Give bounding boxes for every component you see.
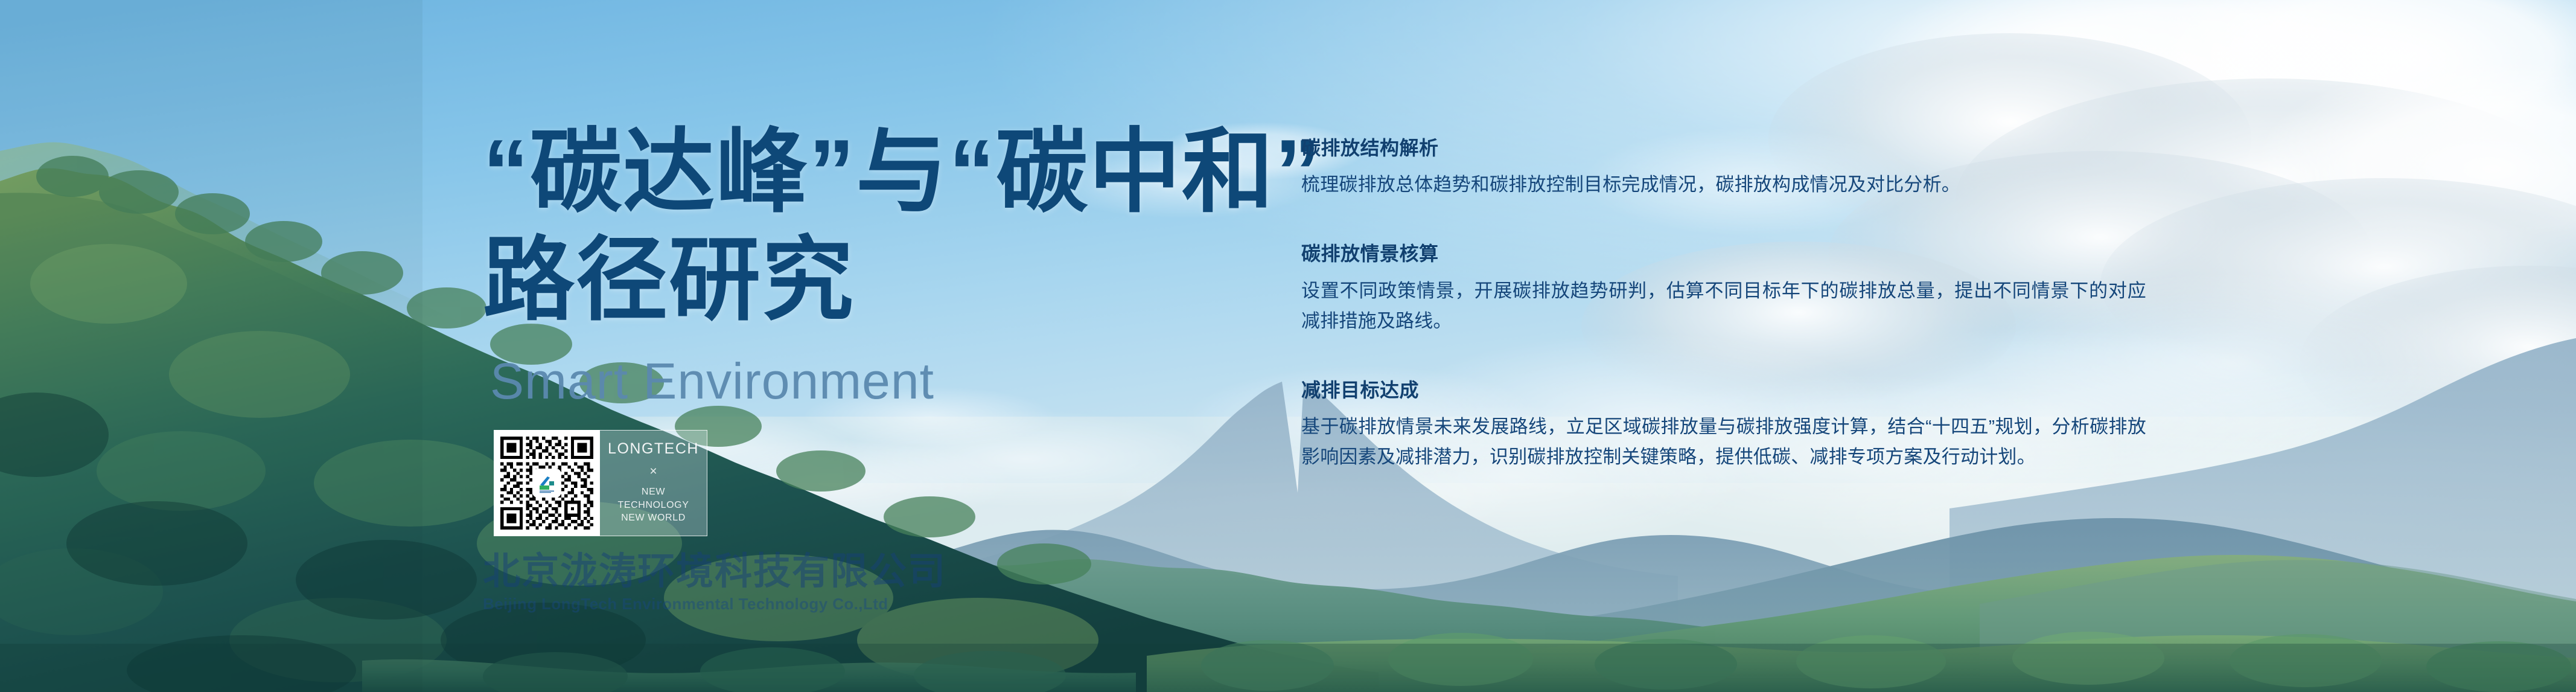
brand-tagline-line-3: NEW WORLD [617, 511, 689, 524]
feature-3-title: 减排目标达成 [1301, 380, 2146, 401]
brand-tagline-line-2: TECHNOLOGY [617, 499, 689, 511]
feature-1-title: 碳排放结构解析 [1301, 138, 2146, 159]
leaf-mark-icon [535, 472, 558, 495]
company-logo [534, 470, 560, 496]
page-title-line-1: “碳达峰”与“碳中和” [483, 118, 1195, 226]
feature-item-1: 碳排放结构解析 梳理碳排放总体趋势和碳排放控制目标完成情况，碳排放构成情况及对比… [1301, 138, 2146, 200]
feature-item-2: 碳排放情景核算 设置不同政策情景，开展碳排放趋势研判，估算不同目标年下的碳排放总… [1301, 243, 2146, 336]
headline-block: “碳达峰”与“碳中和” 路径研究 Smart Environment [483, 118, 1195, 406]
page-title-line-2: 路径研究 [483, 226, 1195, 335]
feature-1-body: 梳理碳排放总体趋势和碳排放控制目标完成情况，碳排放构成情况及对比分析。 [1301, 170, 2146, 200]
brand-row: LONGTECH × NEW TECHNOLOGY NEW WORLD [494, 430, 707, 536]
feature-2-body: 设置不同政策情景，开展碳排放趋势研判，估算不同目标年下的碳排放总量，提出不同情景… [1301, 276, 2146, 336]
page-subtitle: Smart Environment [483, 356, 1195, 406]
qr-code[interactable] [494, 430, 600, 536]
brand-name: LONGTECH [608, 441, 699, 457]
brand-panel: LONGTECH × NEW TECHNOLOGY NEW WORLD [600, 430, 707, 536]
feature-3-body: 基于碳排放情景未来发展路线，立足区域碳排放量与碳排放强度计算，结合“十四五”规划… [1301, 412, 2146, 472]
feature-list: 碳排放结构解析 梳理碳排放总体趋势和碳排放控制目标完成情况，碳排放构成情况及对比… [1301, 138, 2146, 473]
feature-2-title: 碳排放情景核算 [1301, 243, 2146, 264]
brand-tagline-line-1: NEW [617, 485, 689, 498]
brand-separator-icon: × [649, 464, 657, 479]
foreground-canopy-layer [0, 0, 2576, 692]
brand-tagline: NEW TECHNOLOGY NEW WORLD [617, 485, 689, 524]
hero-banner: “碳达峰”与“碳中和” 路径研究 Smart Environment [0, 0, 2576, 692]
feature-item-3: 减排目标达成 基于碳排放情景未来发展路线，立足区域碳排放量与碳排放强度计算，结合… [1301, 380, 2146, 473]
